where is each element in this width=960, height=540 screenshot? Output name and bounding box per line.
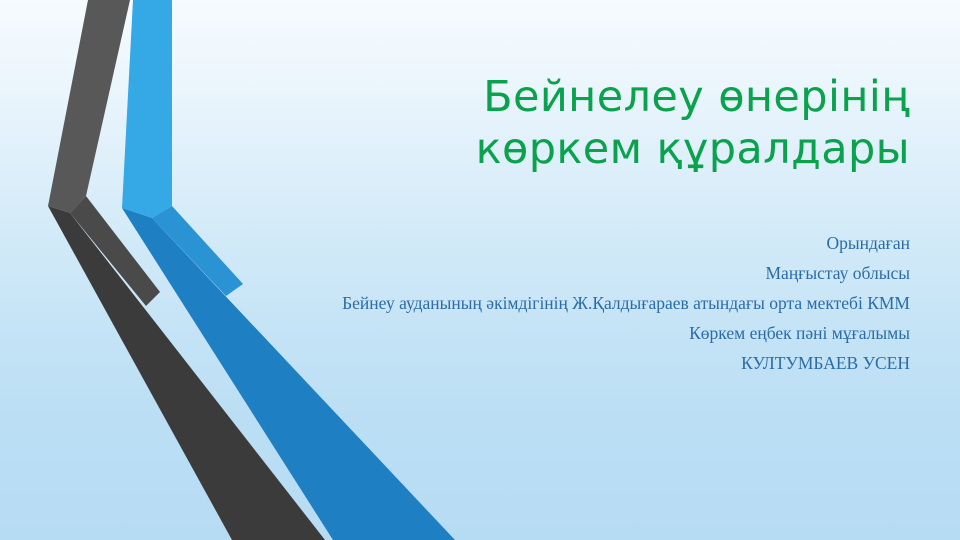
subtitle-line-author-name: КУЛТУМБАЕВ УСЕН — [332, 348, 910, 378]
subtitle-line-subject: Көркем еңбек пәні мұғалымы — [332, 318, 910, 348]
blue-ribbon-upper-segment — [122, 0, 172, 218]
gray-ribbon-lower-segment — [48, 206, 325, 540]
gray-ribbon-upper-segment — [48, 0, 130, 213]
subtitle-line-school: Бейнеу ауданының әкімдігінің Ж.Қалдығара… — [332, 288, 910, 318]
slide-title-container: Бейнелеу өнерінің көркем құралдары — [230, 72, 910, 175]
subtitle-line-region: Маңғыстау облысы — [332, 258, 910, 288]
subtitle-line-role: Орындаған — [332, 228, 910, 258]
presentation-slide: Бейнелеу өнерінің көркем құралдары Орынд… — [0, 0, 960, 540]
slide-subtitle-container: Орындаған Маңғыстау облысы Бейнеу ауданы… — [332, 228, 910, 378]
gray-ribbon-fold-highlight — [70, 196, 160, 306]
slide-title: Бейнелеу өнерінің көркем құралдары — [230, 72, 910, 175]
blue-ribbon-fold-highlight — [152, 206, 243, 296]
